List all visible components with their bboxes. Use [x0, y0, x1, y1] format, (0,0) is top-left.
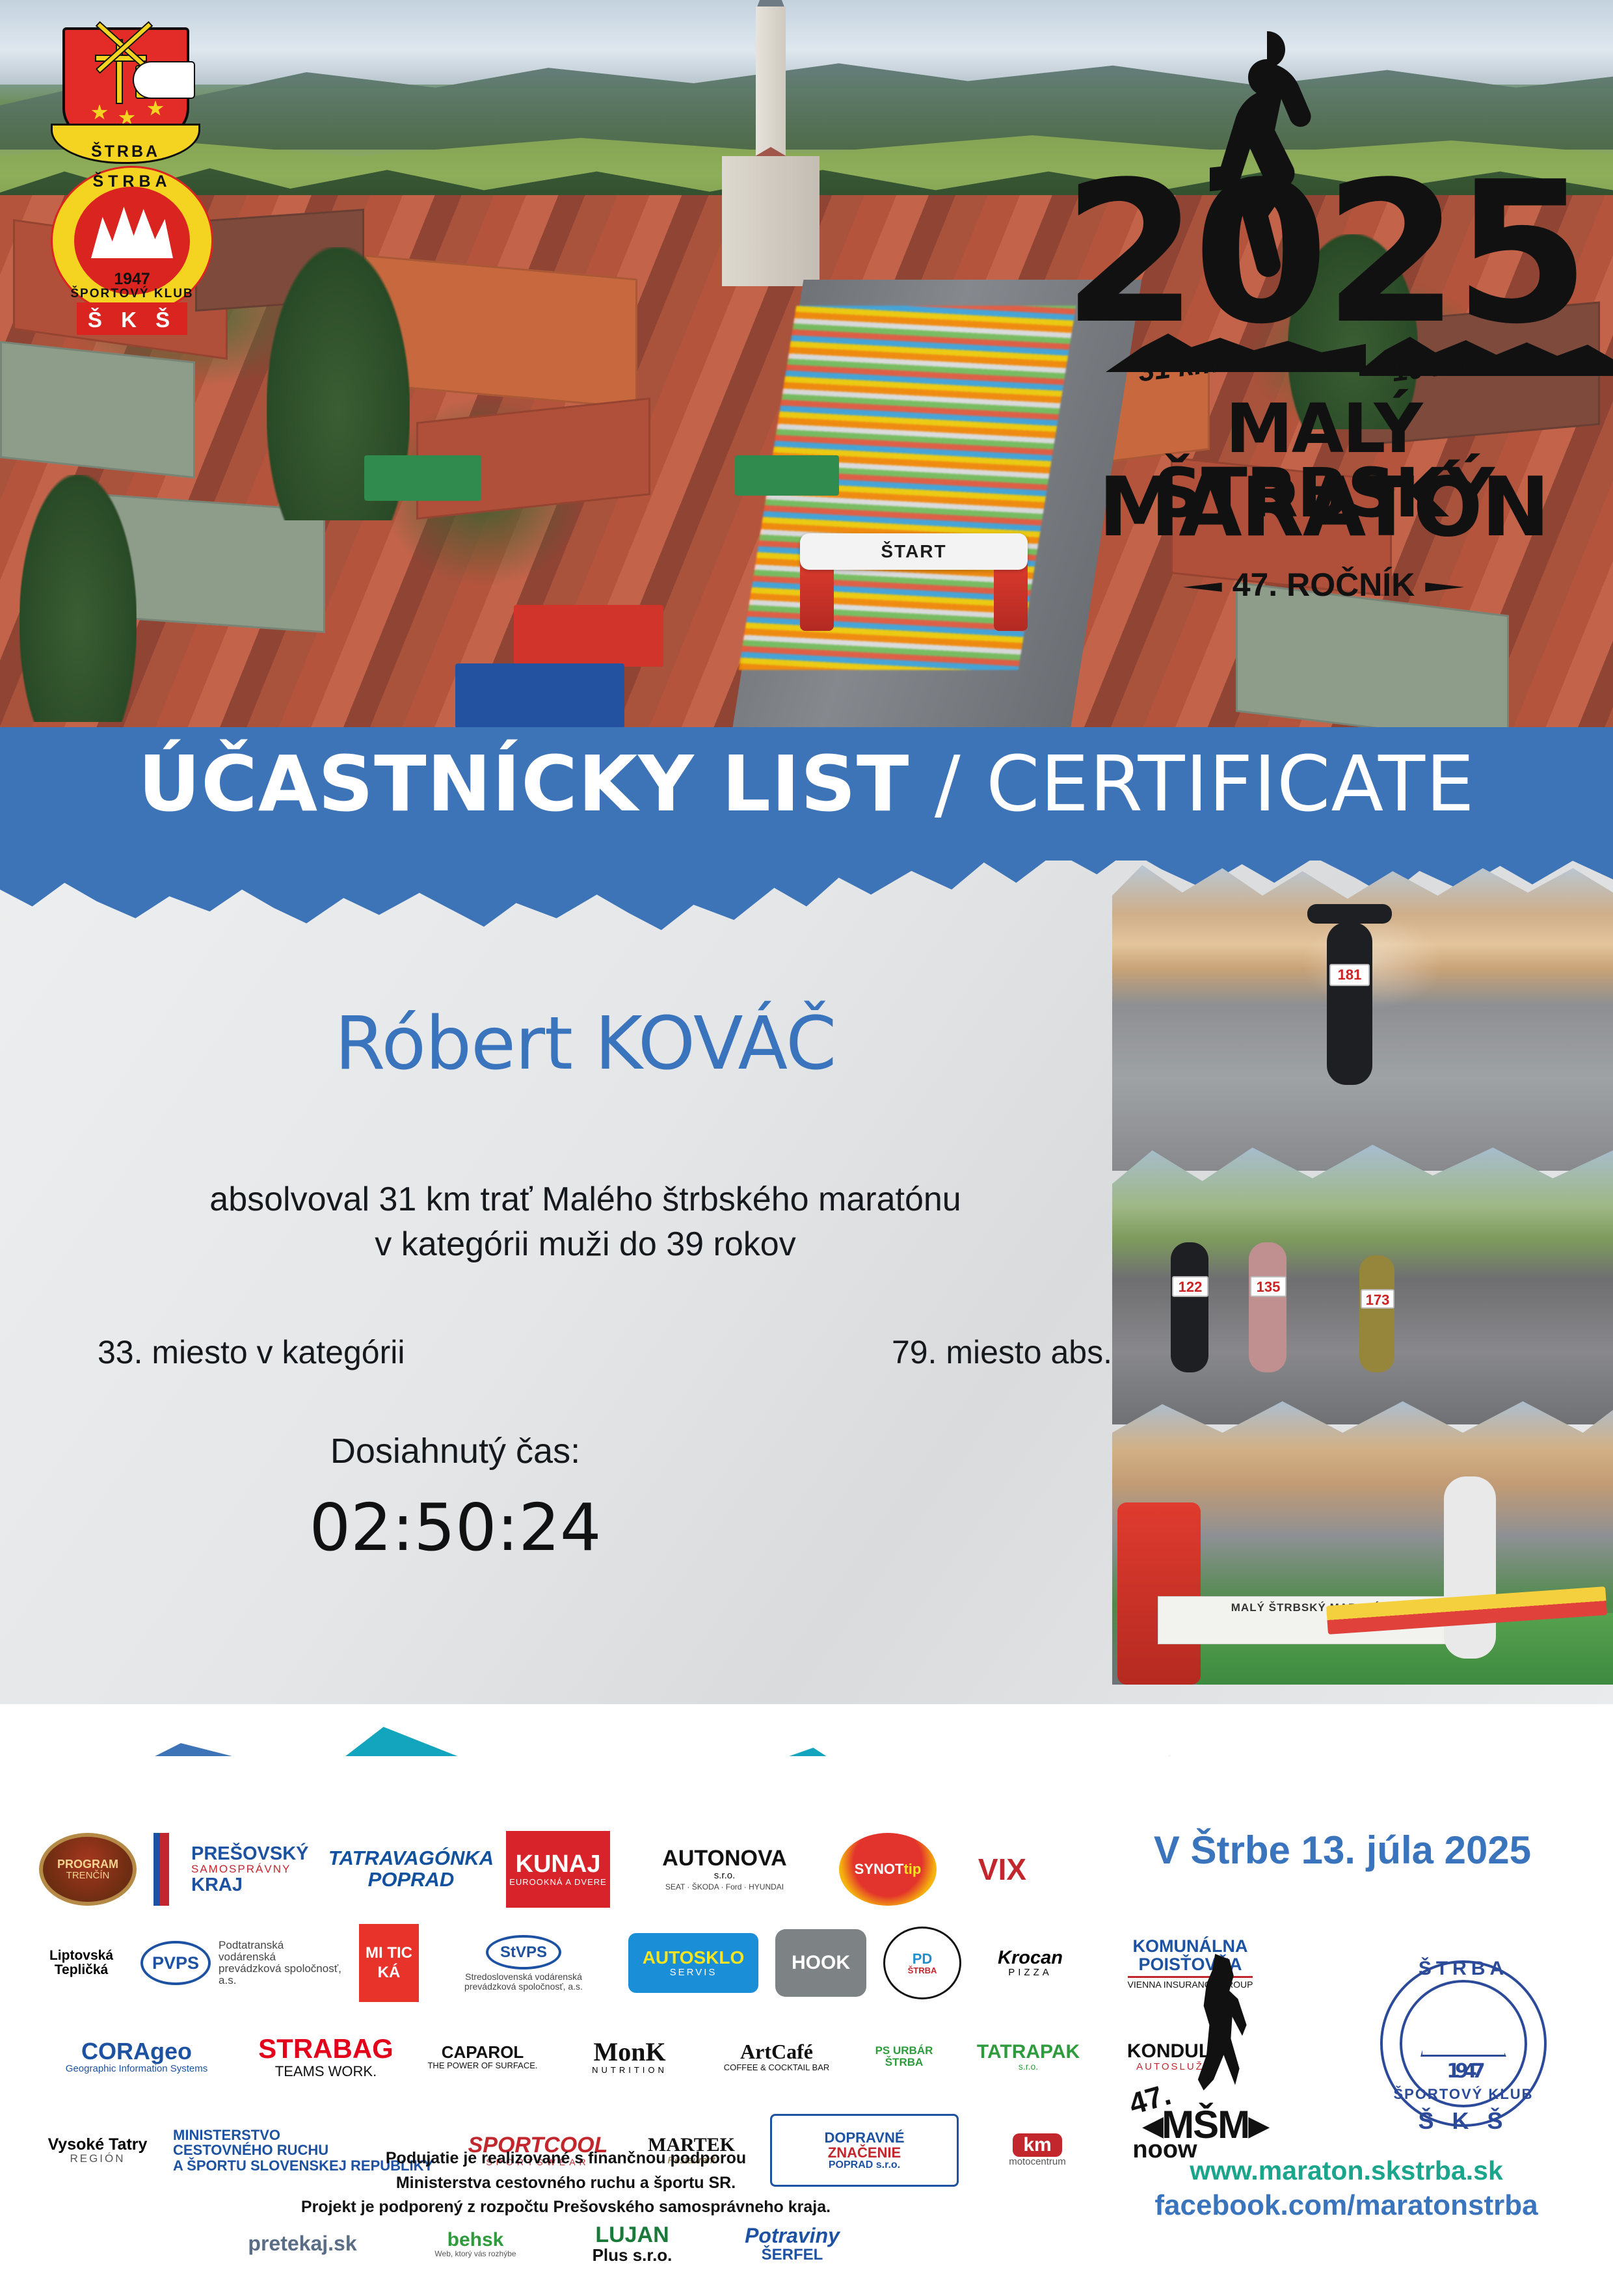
msm-anniversary-logo: 47. ◂MŠM▸: [1125, 1951, 1314, 2140]
website-link[interactable]: www.maraton.skstrba.sk: [1106, 2154, 1587, 2187]
inflatable-arch: [1117, 1502, 1201, 1685]
sponsor-logo-stvps[interactable]: StVPS Stredoslovenská vodárenská prevádz…: [436, 1927, 611, 1999]
page-title: ÚČASTNÍCKY LIST / CERTIFICATE: [0, 745, 1613, 822]
sponsor-logo-artcafe[interactable]: ArtCafé COFFEE & COCKTAIL BAR: [712, 2020, 842, 2093]
description-line-2: v kategórii muži do 39 rokov: [78, 1222, 1093, 1267]
sponsor-logo-vix[interactable]: VIX: [953, 1833, 1051, 1906]
recipient-name: Róbert KOVÁČ: [78, 1002, 1093, 1086]
place-absolute: 79. miesto abs.: [892, 1333, 1112, 1371]
bib-number: 181: [1329, 964, 1370, 986]
sponsor-grid: PROGRAM TRENČÍN PREŠOVSKÝ SAMOSPRÁVNY KR…: [39, 1828, 1119, 2296]
stamp-year: 1947: [1366, 2062, 1561, 2081]
stamp-abbrev: Š K Š: [1366, 2107, 1561, 2135]
sponsor-logo-pvps[interactable]: PVPS Podtatranská vodárenská prevádzková…: [140, 1927, 342, 1999]
start-arch: ŠTART: [800, 533, 1028, 631]
sponsor-logo-corageo[interactable]: CORAgeo Geographic Information Systems: [39, 2020, 234, 2093]
sponsor-logo-miticka[interactable]: MI TIC KÁ: [359, 1924, 419, 2002]
event-name-line2: MARATÓN: [1054, 468, 1593, 546]
sponsor-logo-autonova[interactable]: AUTONOVA s.r.o. SEAT · ŠKODA · Ford · HY…: [627, 1833, 822, 1906]
sponsor-logo-hook[interactable]: HOOK: [775, 1929, 866, 1997]
club-abbrev: Š K Š: [51, 308, 213, 332]
event-edition: 47. ROČNÍK: [1054, 566, 1593, 604]
sponsor-logo-program-trencin[interactable]: PROGRAM TRENČÍN: [39, 1833, 137, 1906]
sponsor-row: CORAgeo Geographic Information Systems S…: [39, 2015, 1119, 2098]
sponsor-logo-caparol[interactable]: CAPAROL THE POWER OF SURFACE.: [418, 2020, 548, 2093]
certificate-date: V Štrbe 13. júla 2025: [1115, 1828, 1570, 1873]
funding-note: Podujatie je realizované s finančnou pod…: [39, 2146, 1093, 2220]
village-church: [722, 7, 820, 286]
sponsor-logo-strabag[interactable]: STRABAG TEAMS WORK.: [251, 2020, 401, 2093]
photo-collage: 181 122 135 173 MALÝ ŠTRBSKÝ MARATÓN: [1099, 865, 1613, 1698]
certificate-description: absolvoval 31 km trať Malého štrbského m…: [78, 1177, 1093, 1266]
sponsor-logo-presovsky-kraj[interactable]: PREŠOVSKÝ SAMOSPRÁVNY KRAJ: [153, 1833, 316, 1906]
time-value: 02:50:24: [78, 1489, 833, 1566]
event-year: 2025: [1054, 156, 1593, 351]
photo-runners-on-course: 122 135 173: [1112, 1145, 1613, 1424]
sport-club-emblem: ŠTRBA 1947 ŠPORTOVÝ KLUB Š K Š: [51, 166, 213, 332]
sponsor-logo-autosklo-servis[interactable]: AUTOSKLO SERVIS: [628, 1933, 758, 1993]
description-line-1: absolvoval 31 km trať Malého štrbského m…: [78, 1177, 1093, 1222]
sponsor-logo-tatravagonka-poprad[interactable]: TATRAVAGÓNKA POPRAD: [333, 1833, 489, 1906]
stamp-top-name: ŠTRBA: [1366, 1958, 1561, 1980]
bib-number: 173: [1361, 1289, 1394, 1309]
hero-photo-village-start: ŠTART ŠTRBA ŠTRBA 1947 ŠPORTOVÝ KLUB Š K…: [0, 0, 1613, 735]
msm-abbrev: ◂MŠM▸: [1143, 2102, 1267, 2148]
sponsor-row: Liptovská Tepličká PVPS Podtatranská vod…: [39, 1921, 1119, 2005]
funding-note-line-3: Projekt je podporený z rozpočtu Prešovsk…: [39, 2195, 1093, 2220]
sponsor-logo-synot-tip[interactable]: SYNOTtip: [839, 1833, 937, 1906]
placement-row: 33. miesto v kategórii 79. miesto abs.: [98, 1333, 1112, 1371]
page-title-en: CERTIFICATE: [986, 739, 1475, 829]
contact-links: www.maraton.skstrba.sk facebook.com/mara…: [1106, 2154, 1587, 2223]
club-subtitle: ŠPORTOVÝ KLUB: [51, 287, 213, 301]
start-arch-label: ŠTART: [800, 541, 1028, 562]
sponsor-logo-kunaj[interactable]: KUNAJ EUROOKNÁ A DVERE: [506, 1831, 610, 1908]
sponsor-logo-ps-urbar-strba[interactable]: PS URBÁR ŠTRBA: [859, 2020, 950, 2093]
sponsor-logo-pd-strba[interactable]: PD ŠTRBA: [883, 1927, 961, 1999]
page-title-separator: /: [909, 739, 986, 829]
certificate-title-band: ÚČASTNÍCKY LIST / CERTIFICATE: [0, 727, 1613, 861]
event-logo: 2025 31 km 10 km MALÝ ŠTRBSKÝ MARATÓN 47…: [1054, 26, 1593, 611]
club-year: 1947: [51, 270, 213, 289]
sponsor-logo-monk-nutrition[interactable]: MonK NUTRITION: [565, 2020, 695, 2093]
coat-of-arms-municipality: ŠTRBA: [53, 142, 198, 161]
sponsor-logo-tatrapak[interactable]: TATRAPAK s.r.o.: [966, 2020, 1090, 2093]
bib-number: 122: [1172, 1276, 1208, 1297]
msm-runner-icon: [1185, 1954, 1257, 2090]
photo-finish-line: MALÝ ŠTRBSKÝ MARATÓN: [1112, 1398, 1613, 1685]
funding-note-line-2: Ministerstva cestovného ruchu a športu S…: [39, 2171, 1093, 2196]
footer: V Štrbe 13. júla 2025 PROGRAM TRENČÍN PR…: [0, 1756, 1613, 2282]
sponsor-logo-krocan-pizza[interactable]: Krocan PIZZA: [978, 1927, 1082, 1999]
place-category: 33. miesto v kategórii: [98, 1333, 405, 1371]
club-top-name: ŠTRBA: [51, 172, 213, 191]
sks-club-stamp: ŠTRBA 1947 ŠPORTOVÝ KLUB Š K Š: [1366, 1946, 1561, 2141]
stamp-subtitle: ŠPORTOVÝ KLUB: [1366, 2086, 1561, 2103]
funding-note-line-1: Podujatie je realizované s finančnou pod…: [39, 2146, 1093, 2171]
photo-finisher-woman: 181: [1112, 865, 1613, 1171]
page-title-sk: ÚČASTNÍCKY LIST: [138, 739, 909, 829]
strba-coat-of-arms: ŠTRBA: [51, 27, 200, 183]
sponsor-row: PROGRAM TRENČÍN PREŠOVSKÝ SAMOSPRÁVNY KR…: [39, 1828, 1119, 1911]
bib-number: 135: [1250, 1276, 1286, 1297]
facebook-link[interactable]: facebook.com/maratonstrba: [1106, 2187, 1587, 2223]
sponsor-logo-liptovska-teplicka[interactable]: Liptovská Tepličká: [39, 1927, 124, 1999]
time-label: Dosiahnutý čas:: [78, 1431, 833, 1471]
